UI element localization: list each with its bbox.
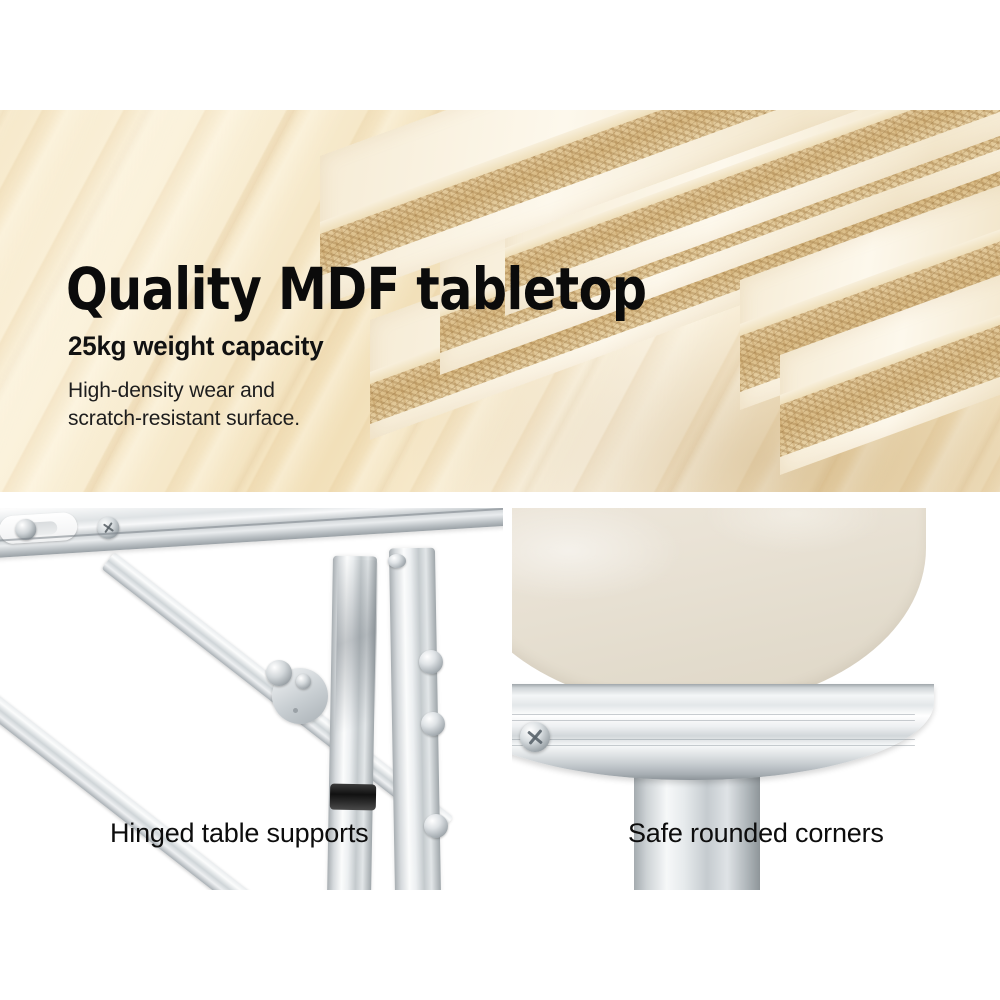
hero-text-block: Quality MDF tabletop 25kg weight capacit… [66,260,746,434]
hinge-rivet-dot-icon [293,708,298,713]
phillips-screw-icon [97,516,120,539]
hero-body-line-1: High-density wear and [68,377,746,405]
band-groove-line [512,745,915,746]
slotted-mounting-plate [0,512,78,545]
band-groove-line [512,720,915,721]
leg-black-collar [330,784,376,811]
leg-shading-overlay [334,560,378,791]
hinge-pin-icon [266,660,292,686]
caption-hinged-supports: Hinged table supports [110,818,368,849]
hero-subheading: 25kg weight capacity [68,331,719,362]
leg-rivet-icon [419,650,443,674]
bolt-icon [15,518,37,540]
band-groove-line [512,714,915,715]
caption-rounded-corners: Safe rounded corners [628,818,884,849]
page-title: Quality MDF tabletop [66,260,705,318]
aluminium-edge-band [512,684,934,780]
hero-panel: Quality MDF tabletop 25kg weight capacit… [0,110,1000,492]
hinge-pin-small-icon [296,674,311,689]
hero-body-copy: High-density wear and scratch-resistant … [68,377,746,434]
edge-band-screw-icon [520,722,550,752]
promo-image-canvas: Quality MDF tabletop 25kg weight capacit… [0,0,1000,1000]
leg-rivet-icon [424,814,448,838]
leg-rivet-icon [421,712,445,736]
band-groove-line [512,739,915,740]
rounded-tabletop-surface [512,508,926,708]
hero-body-line-2: scratch-resistant surface. [68,405,746,433]
leg-top-rivet-icon [388,554,406,568]
